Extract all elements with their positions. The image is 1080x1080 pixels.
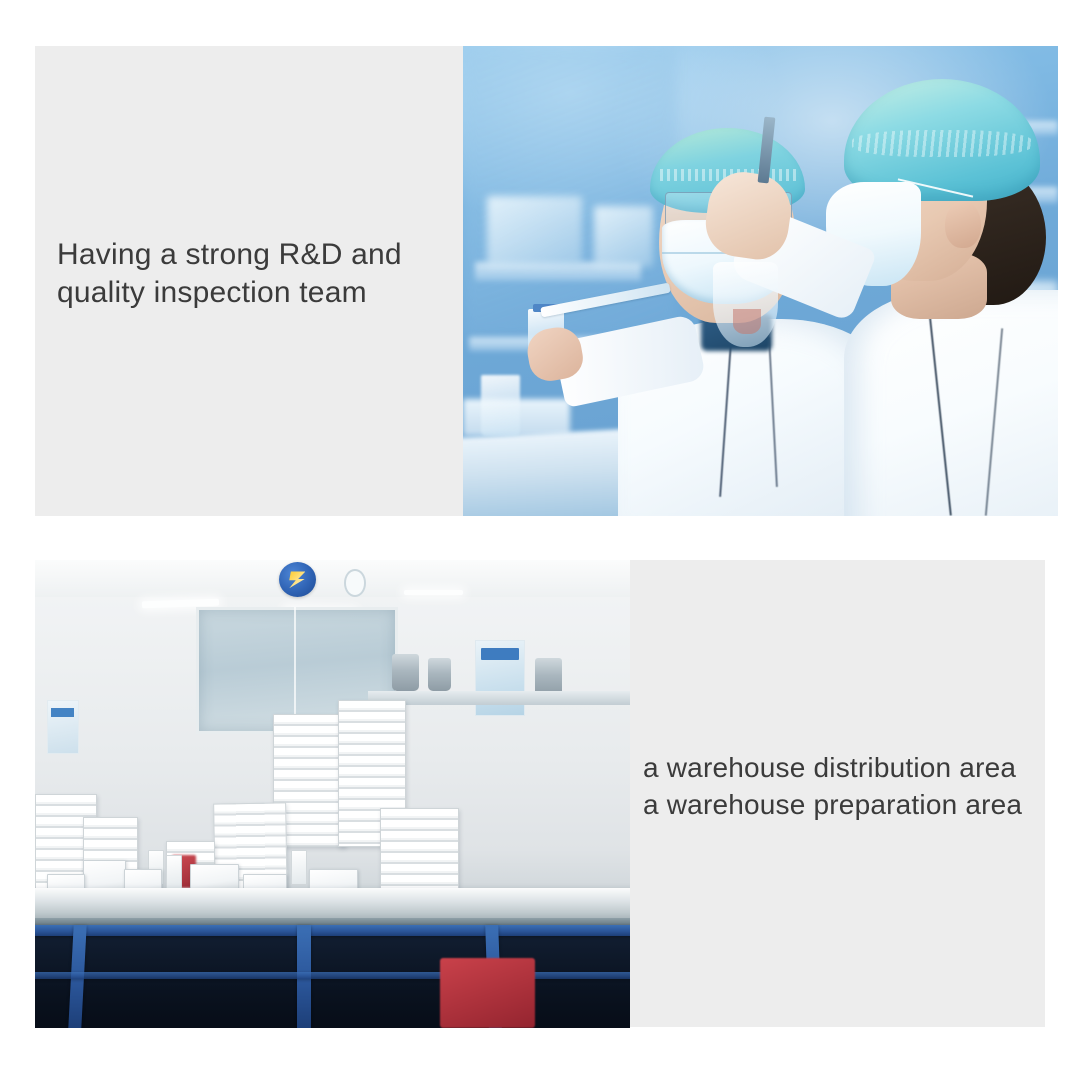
red-floor-bin xyxy=(440,958,535,1028)
lab-equipment-box xyxy=(594,206,654,267)
back-counter xyxy=(368,691,630,705)
product-tube xyxy=(291,850,307,885)
bottom-caption: a warehouse distribution area a warehous… xyxy=(643,750,1053,824)
product-tube xyxy=(166,855,182,890)
ceiling-light xyxy=(404,590,464,595)
wall-clock-icon xyxy=(344,569,366,596)
packing-photo-content xyxy=(35,560,630,1028)
packing-room-ceiling xyxy=(35,560,630,597)
lab-flask xyxy=(713,262,778,347)
lab-photo-content xyxy=(463,46,1058,516)
under-table-shadow xyxy=(35,934,630,1028)
steel-canister xyxy=(392,654,419,691)
lab-equipment-box xyxy=(487,196,582,267)
table-blue-frame-rail xyxy=(35,925,630,936)
table-blue-crossbar xyxy=(35,972,630,979)
steel-canister xyxy=(428,658,452,691)
window-mullion xyxy=(294,607,296,729)
lab-beaker xyxy=(481,375,520,436)
wall-notice-poster xyxy=(47,700,79,753)
bottom-caption-line-1: a warehouse distribution area xyxy=(643,750,1053,787)
top-section: Having a strong R&D and quality inspecti… xyxy=(0,0,1080,540)
bottom-caption-line-2: a warehouse preparation area xyxy=(643,787,1053,824)
company-logo-sign xyxy=(279,562,316,597)
technician-right-ear xyxy=(945,201,981,248)
top-caption: Having a strong R&D and quality inspecti… xyxy=(57,236,457,311)
lab-inspection-photo xyxy=(463,46,1058,516)
top-caption-line-2: quality inspection team xyxy=(57,274,457,312)
top-caption-line-1: Having a strong R&D and xyxy=(57,236,457,274)
warehouse-packing-photo xyxy=(35,560,630,1028)
bottom-section: a warehouse distribution area a warehous… xyxy=(0,540,1080,1080)
technician-right-coat xyxy=(844,290,1058,516)
